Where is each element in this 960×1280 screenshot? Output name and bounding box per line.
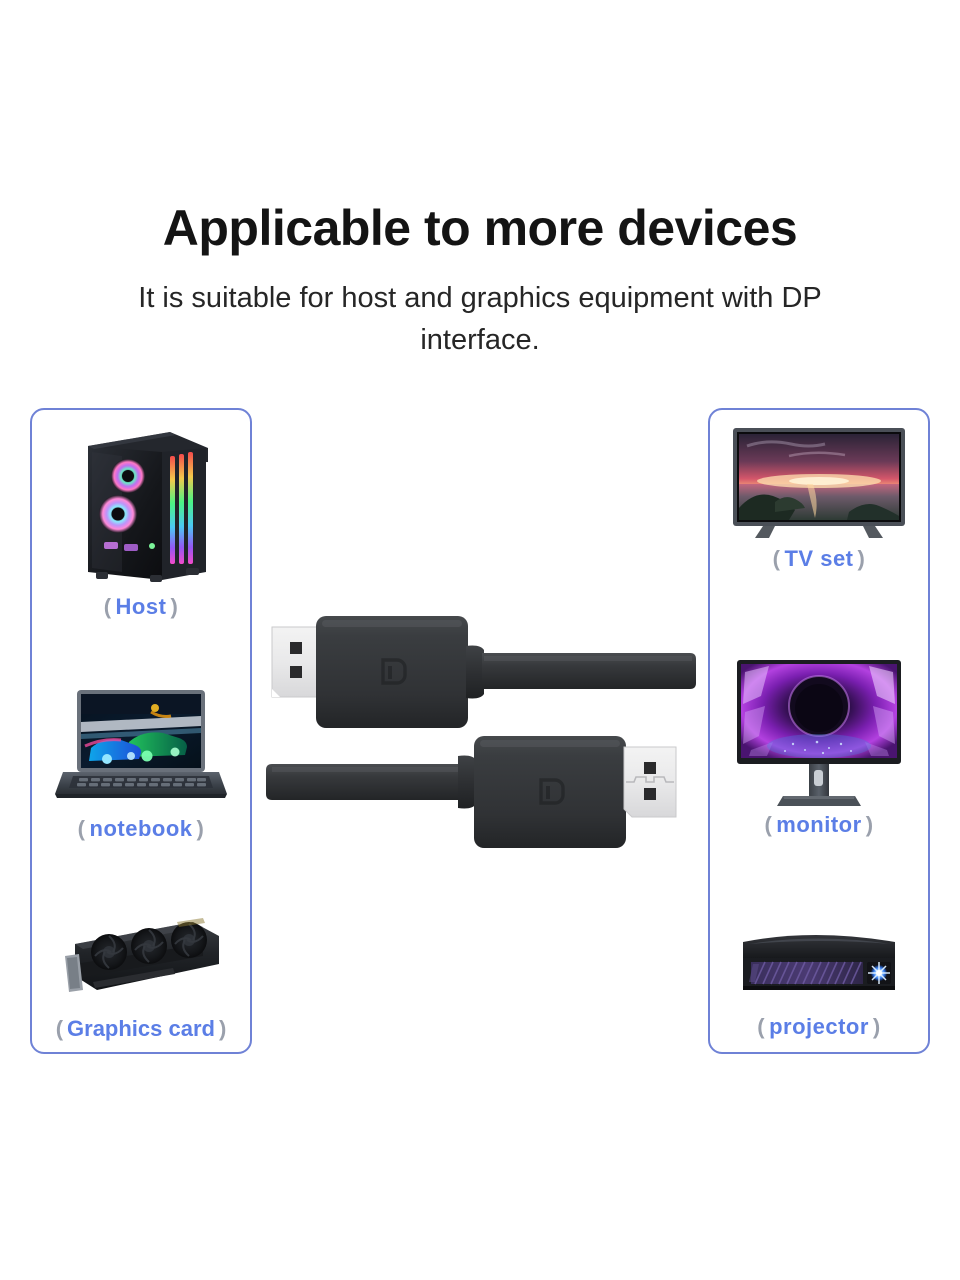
device-cell-monitor: (monitor): [710, 658, 928, 838]
device-cell-host: (Host): [32, 422, 250, 620]
paren-close: ): [219, 1016, 226, 1041]
device-label-monitor: (monitor): [764, 812, 873, 838]
dp-connector-bottom: [266, 736, 676, 848]
display-devices-panel: (TV set): [708, 408, 930, 1054]
device-label-text: monitor: [776, 812, 861, 837]
device-label-text: Host: [116, 594, 167, 619]
infographic-page: Applicable to more devices It is suitabl…: [0, 0, 960, 1280]
device-label-tv-set: (TV set): [773, 546, 866, 572]
device-cell-projector: (projector): [710, 924, 928, 1040]
paren-close: ): [170, 594, 178, 619]
device-label-notebook: (notebook): [78, 816, 205, 842]
device-label-text: notebook: [90, 816, 193, 841]
device-label-host: (Host): [104, 594, 179, 620]
desktop-tower-icon: [32, 422, 250, 590]
paren-open: (: [757, 1014, 765, 1039]
paren-close: ): [197, 816, 205, 841]
paren-open: (: [104, 594, 112, 619]
device-label-text: Graphics card: [67, 1016, 215, 1041]
paren-close: ): [858, 546, 866, 571]
television-icon: [710, 424, 928, 542]
paren-open: (: [764, 812, 772, 837]
device-label-text: projector: [769, 1014, 869, 1039]
monitor-icon: [710, 658, 928, 808]
laptop-icon: [32, 686, 250, 812]
paren-open: (: [56, 1016, 63, 1041]
paren-close: ): [866, 812, 874, 837]
device-cell-notebook: (notebook): [32, 686, 250, 842]
paren-open: (: [78, 816, 86, 841]
gpu-icon: [32, 908, 250, 1012]
header: Applicable to more devices It is suitabl…: [0, 202, 960, 361]
source-devices-panel: (Host): [30, 408, 252, 1054]
page-title: Applicable to more devices: [0, 202, 960, 255]
dp-connector-top: [272, 616, 696, 728]
device-cell-tv-set: (TV set): [710, 424, 928, 572]
projector-icon: [710, 924, 928, 1010]
paren-open: (: [773, 546, 781, 571]
device-label-graphics-card: (Graphics card): [56, 1016, 227, 1042]
device-label-projector: (projector): [757, 1014, 881, 1040]
displayport-cable: [262, 596, 698, 866]
device-label-text: TV set: [784, 546, 853, 571]
page-subtitle: It is suitable for host and graphics equ…: [85, 277, 875, 361]
paren-close: ): [873, 1014, 881, 1039]
device-cell-graphics-card: (Graphics card): [32, 908, 250, 1042]
